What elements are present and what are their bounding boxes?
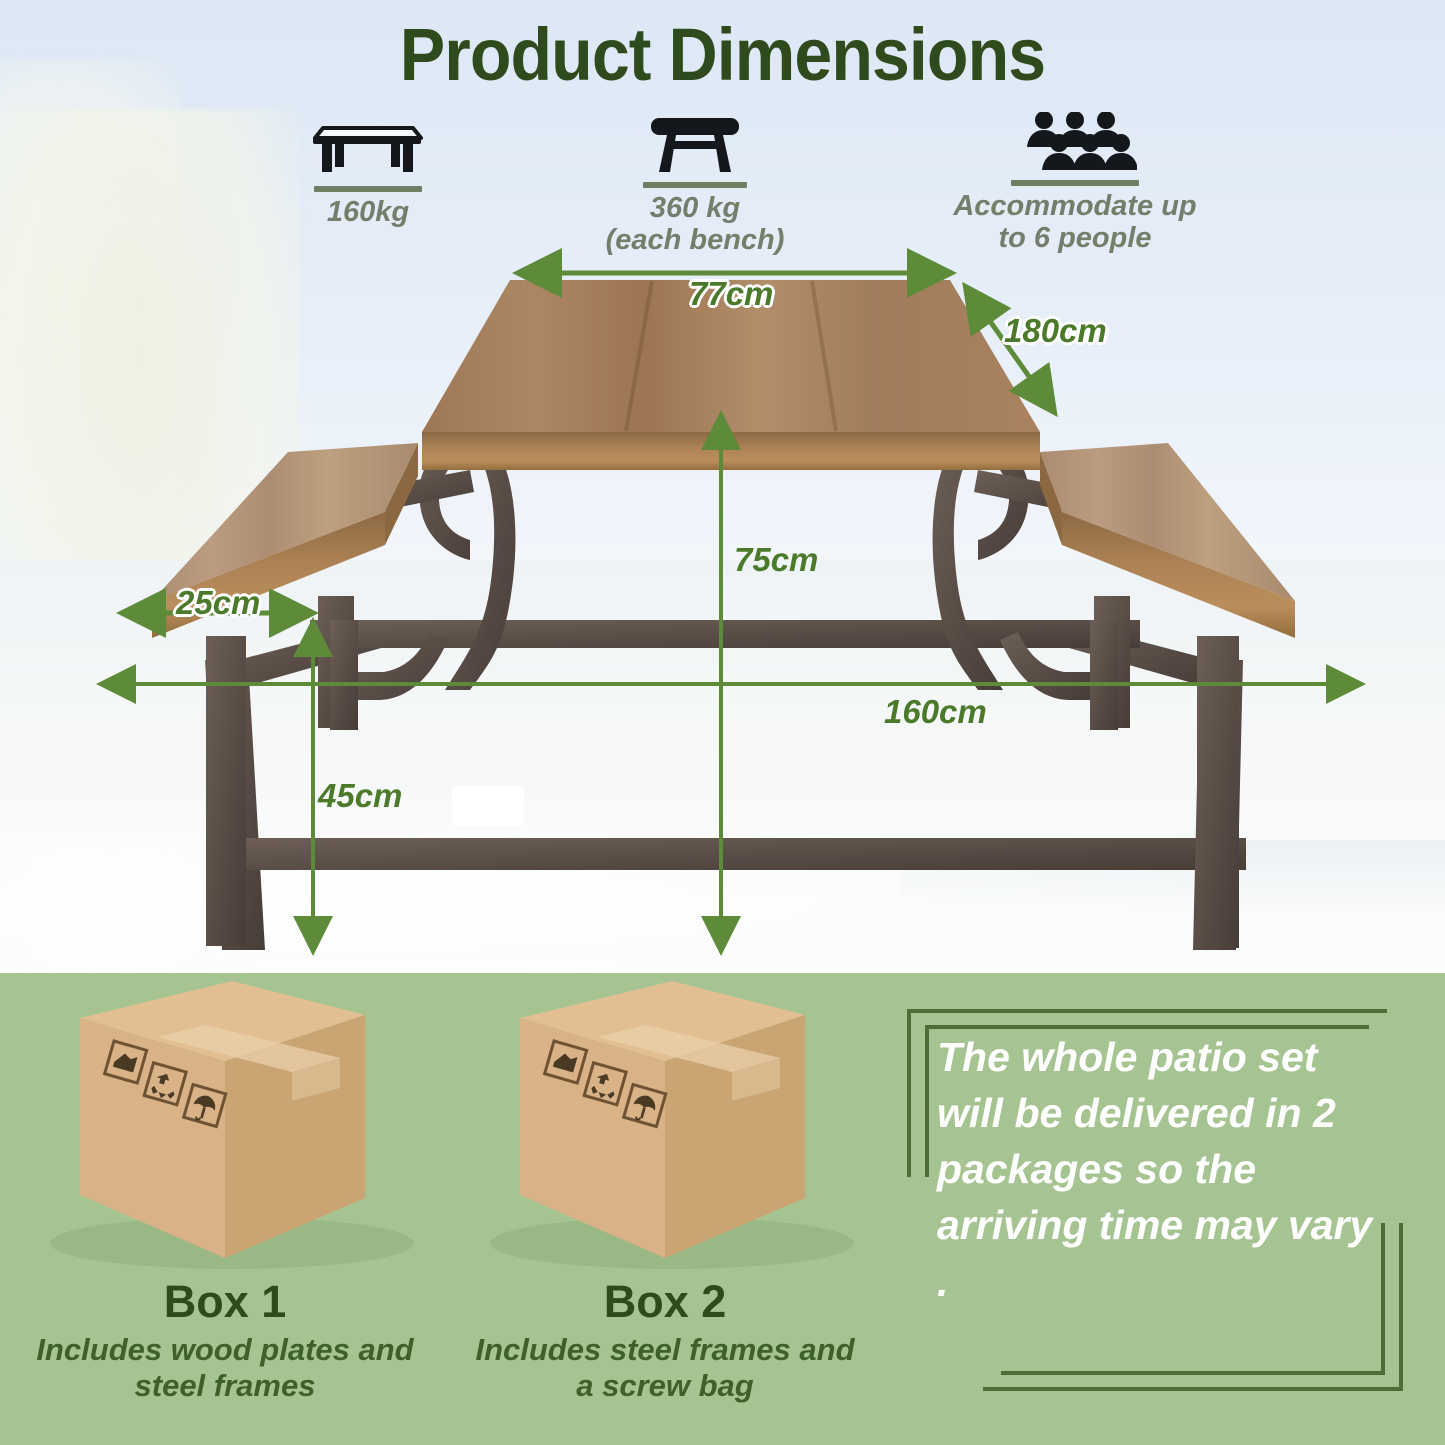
- dimension-label-overall-width: 160cm: [884, 693, 987, 731]
- package-description: Includes steel frames and a screw bag: [450, 1332, 880, 1404]
- package-title: Box 2: [450, 1276, 880, 1328]
- package-1: Box 1 Includes wood plates and steel fra…: [10, 973, 440, 1404]
- dimension-label-table-width: 77cm: [689, 275, 773, 313]
- dimension-label-bench-width: 25cm: [176, 584, 260, 622]
- package-description: Includes wood plates and steel frames: [10, 1332, 440, 1404]
- dimension-label-table-height: 75cm: [734, 541, 818, 579]
- picnic-table-illustration: 77cm 180cm 75cm 25cm 160cm 45cm: [0, 0, 1445, 973]
- package-title: Box 1: [10, 1276, 440, 1328]
- dimension-label-table-depth: 180cm: [1004, 312, 1107, 350]
- dimension-label-bench-height: 45cm: [318, 777, 402, 815]
- dimensions-section: Product Dimensions 160kg: [0, 0, 1445, 973]
- box-illustration: [450, 973, 880, 1278]
- delivery-note-text: The whole patio set will be delivered in…: [937, 1029, 1387, 1310]
- packaging-section: Box 1 Includes wood plates and steel fra…: [0, 973, 1445, 1445]
- delivery-note-panel: The whole patio set will be delivered in…: [895, 1001, 1415, 1416]
- product-dimensions-infographic: Product Dimensions 160kg: [0, 0, 1445, 1445]
- package-2: Box 2 Includes steel frames and a screw …: [450, 973, 880, 1404]
- box-illustration: [10, 973, 440, 1278]
